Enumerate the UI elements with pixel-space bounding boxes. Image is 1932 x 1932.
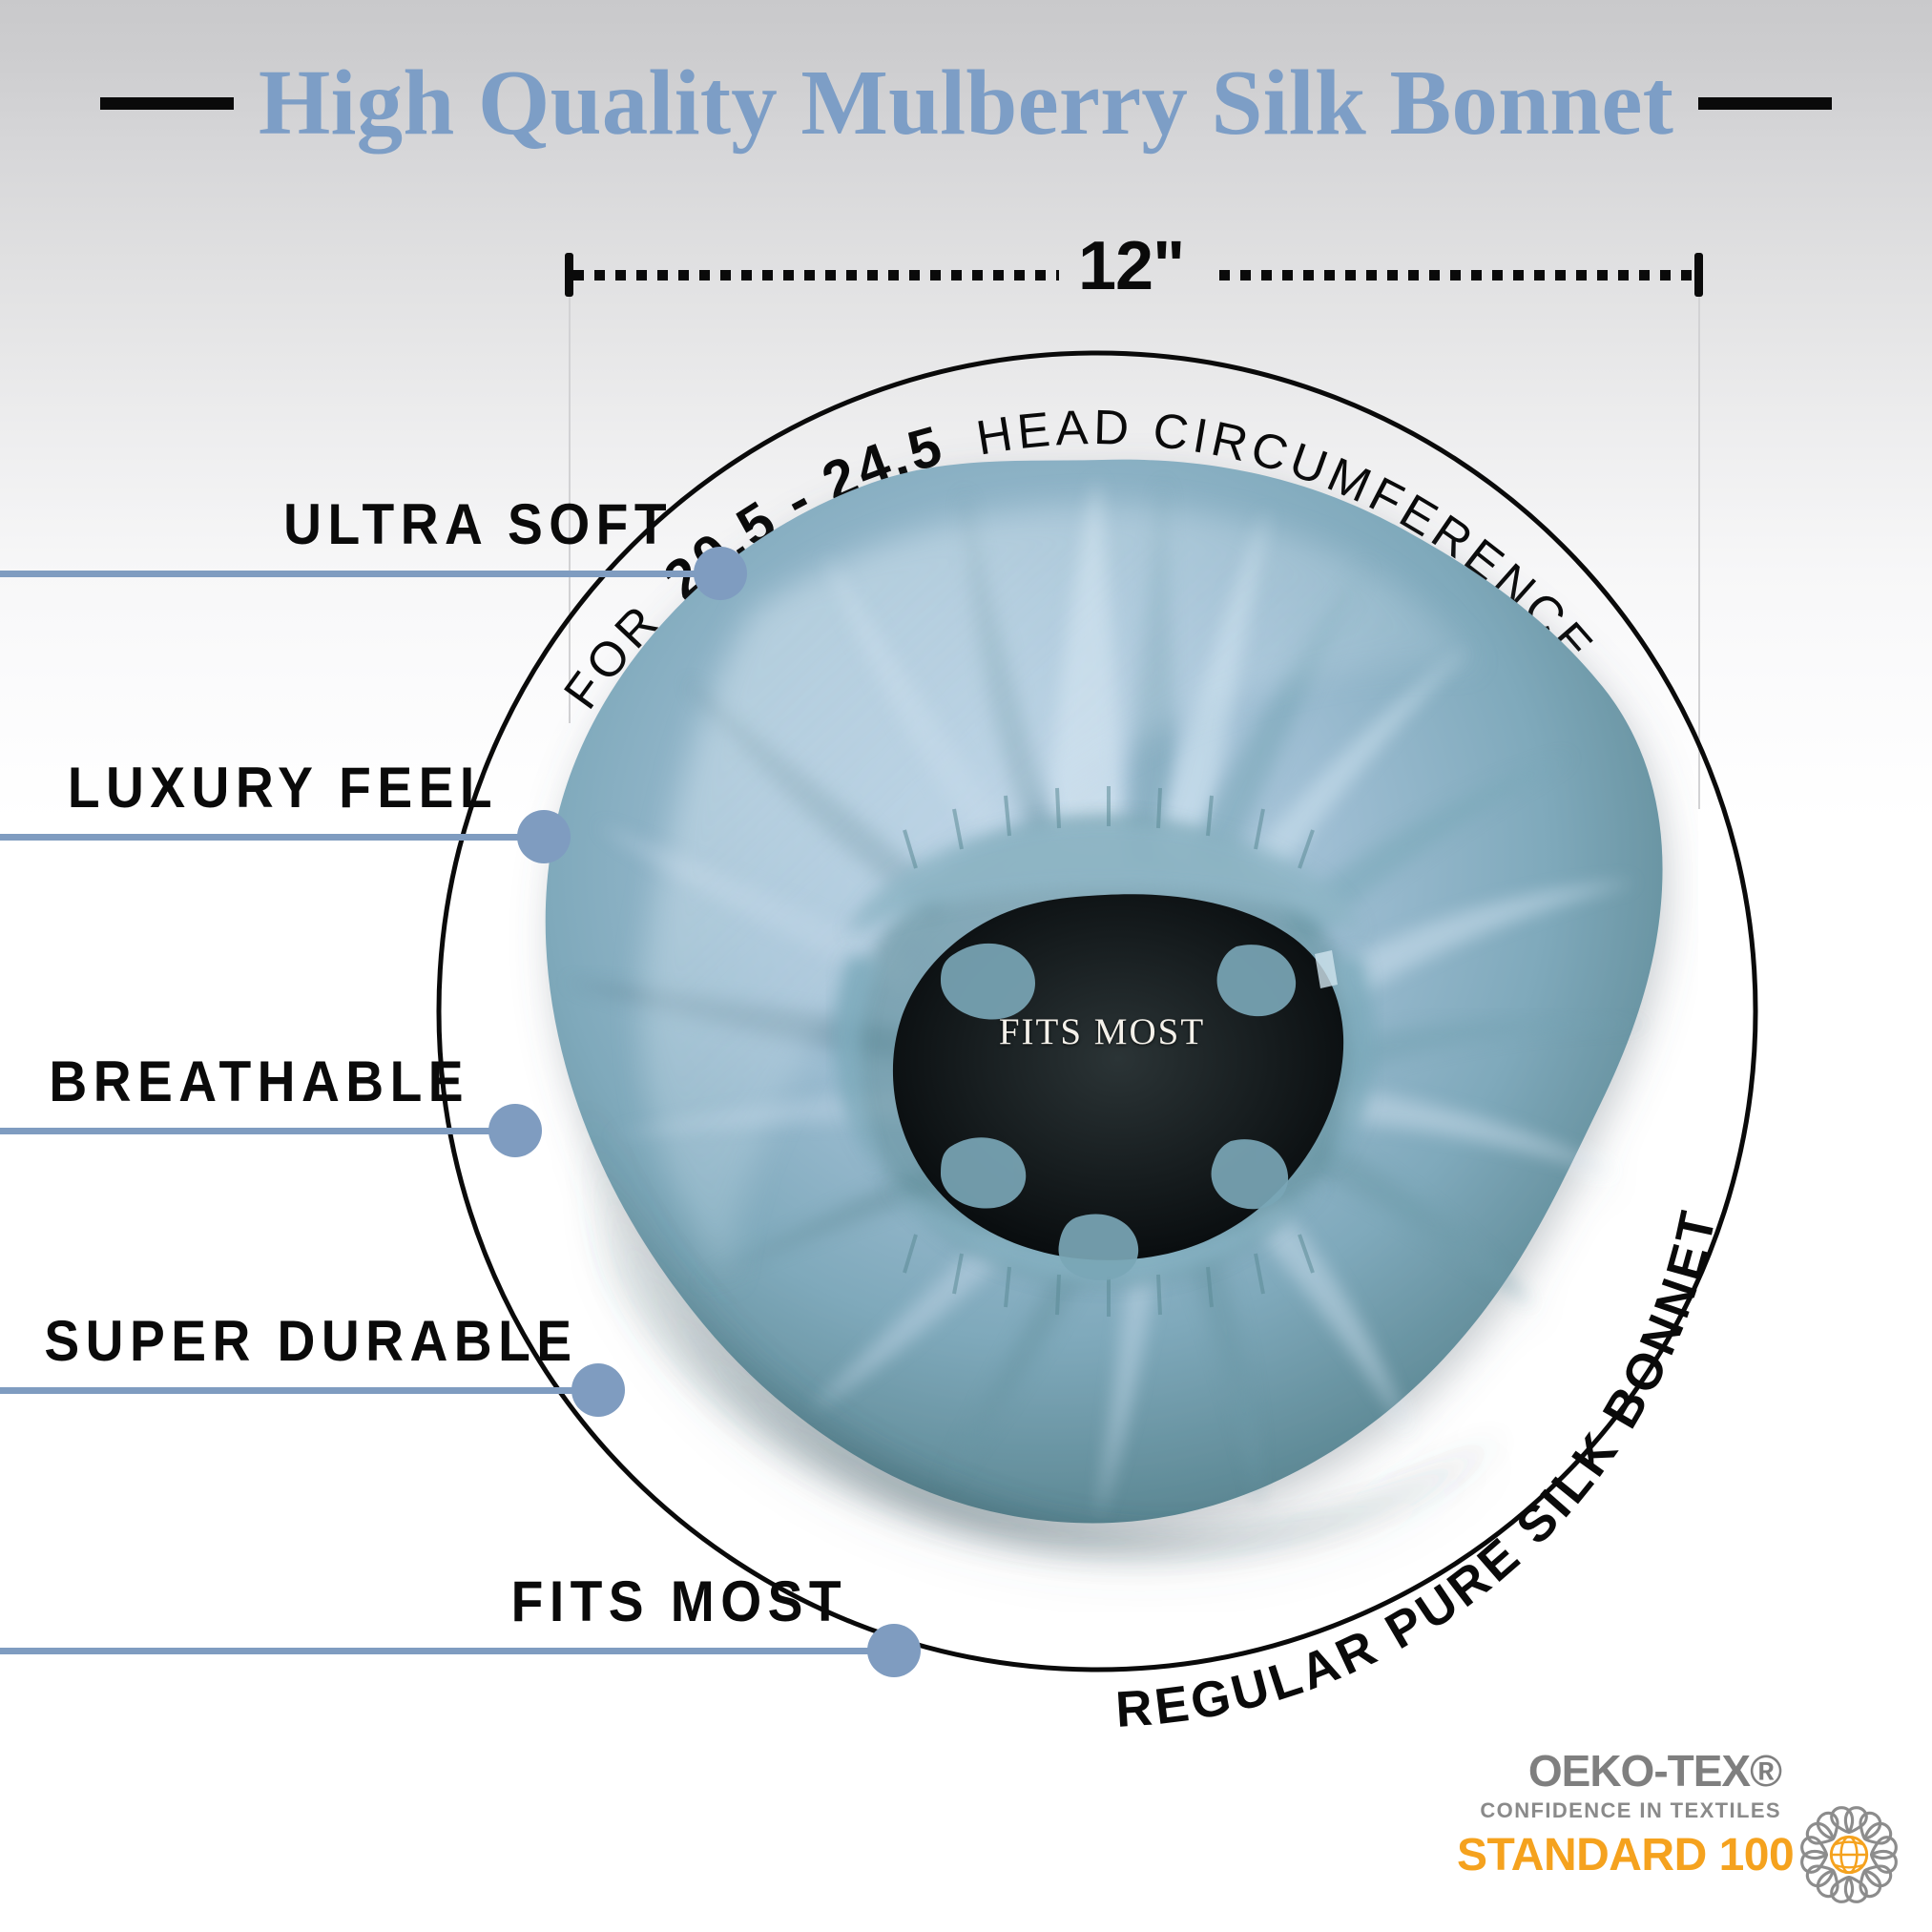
dimension-tick-right-icon [1694, 253, 1703, 297]
dimension-annotation: 12" [0, 0, 1932, 1932]
header: High Quality Mulberry Silk Bonnet [0, 36, 1932, 170]
dimension-label: 12" [1078, 232, 1184, 301]
bonnet-inner-opening [893, 894, 1343, 1260]
callout-line [0, 1648, 868, 1654]
arc-bottom-label: REGULAR PURE SILK BONNET [1114, 1203, 1728, 1738]
callout-dot [571, 1363, 625, 1417]
page-title: High Quality Mulberry Silk Bonnet [259, 56, 1673, 151]
oeko-tex-standard: STANDARD 100 [1457, 1829, 1781, 1881]
callout-label-ultra-soft: ULTRA SOFT [53, 491, 673, 557]
oeko-tex-title: OEKO-TEX® [1457, 1748, 1781, 1794]
callout-line [0, 571, 695, 577]
dimension-dots-right-icon [1219, 270, 1694, 280]
callout-dot [517, 810, 571, 863]
arc-top-suffix: HEAD CIRCUMFERENCE [972, 400, 1606, 675]
callout-label-super-durable: SUPER DURABLE [44, 1308, 553, 1374]
callout-line [0, 834, 518, 841]
dimension-guide-right [1698, 275, 1700, 809]
callout-dot [694, 547, 747, 600]
oeko-tex-text-block: OEKO-TEX® CONFIDENCE IN TEXTILES STANDAR… [1457, 1748, 1781, 1881]
circumference-arc-group: FOR 20.5 - 24.5 HEAD CIRCUMFERENCE REGUL… [0, 0, 1932, 1932]
bonnet-elastic-ring [835, 786, 1375, 1317]
oeko-tex-certification-badge: OEKO-TEX® CONFIDENCE IN TEXTILES STANDAR… [1457, 1748, 1905, 1915]
dimension-tick-left-icon [565, 253, 573, 297]
dimension-dots-left-icon [573, 270, 1059, 280]
infographic-canvas: High Quality Mulberry Silk Bonnet 12" FO… [0, 0, 1932, 1932]
globe-icon [1831, 1837, 1866, 1872]
product-center-label: FITS MOST [506, 1010, 1698, 1053]
arc-text-bottom: REGULAR PURE SILK BONNET [1114, 1203, 1728, 1738]
oeko-tex-globe-icon [1793, 1798, 1905, 1911]
oeko-tex-subtitle: CONFIDENCE IN TEXTILES [1457, 1798, 1781, 1823]
callout-label-luxury-feel: LUXURY FEEL [40, 755, 498, 821]
callout-line [0, 1387, 572, 1394]
bonnet-folds [565, 477, 1651, 1523]
header-dash-left-icon [100, 97, 234, 110]
callout-dot [488, 1104, 542, 1157]
bonnet-body [546, 460, 1663, 1554]
product-image-silk-bonnet: FITS MOST [506, 420, 1698, 1612]
care-label-icon [1315, 950, 1338, 988]
callout-label-fits-most: FITS MOST [68, 1568, 847, 1634]
callout-dot [867, 1624, 921, 1677]
header-dash-right-icon [1698, 97, 1832, 110]
bonnet-inner-petals [941, 944, 1296, 1280]
callout-label-breathable: BREATHABLE [37, 1049, 469, 1114]
arc-top-prefix: FOR [553, 592, 672, 718]
callout-line [0, 1128, 489, 1134]
